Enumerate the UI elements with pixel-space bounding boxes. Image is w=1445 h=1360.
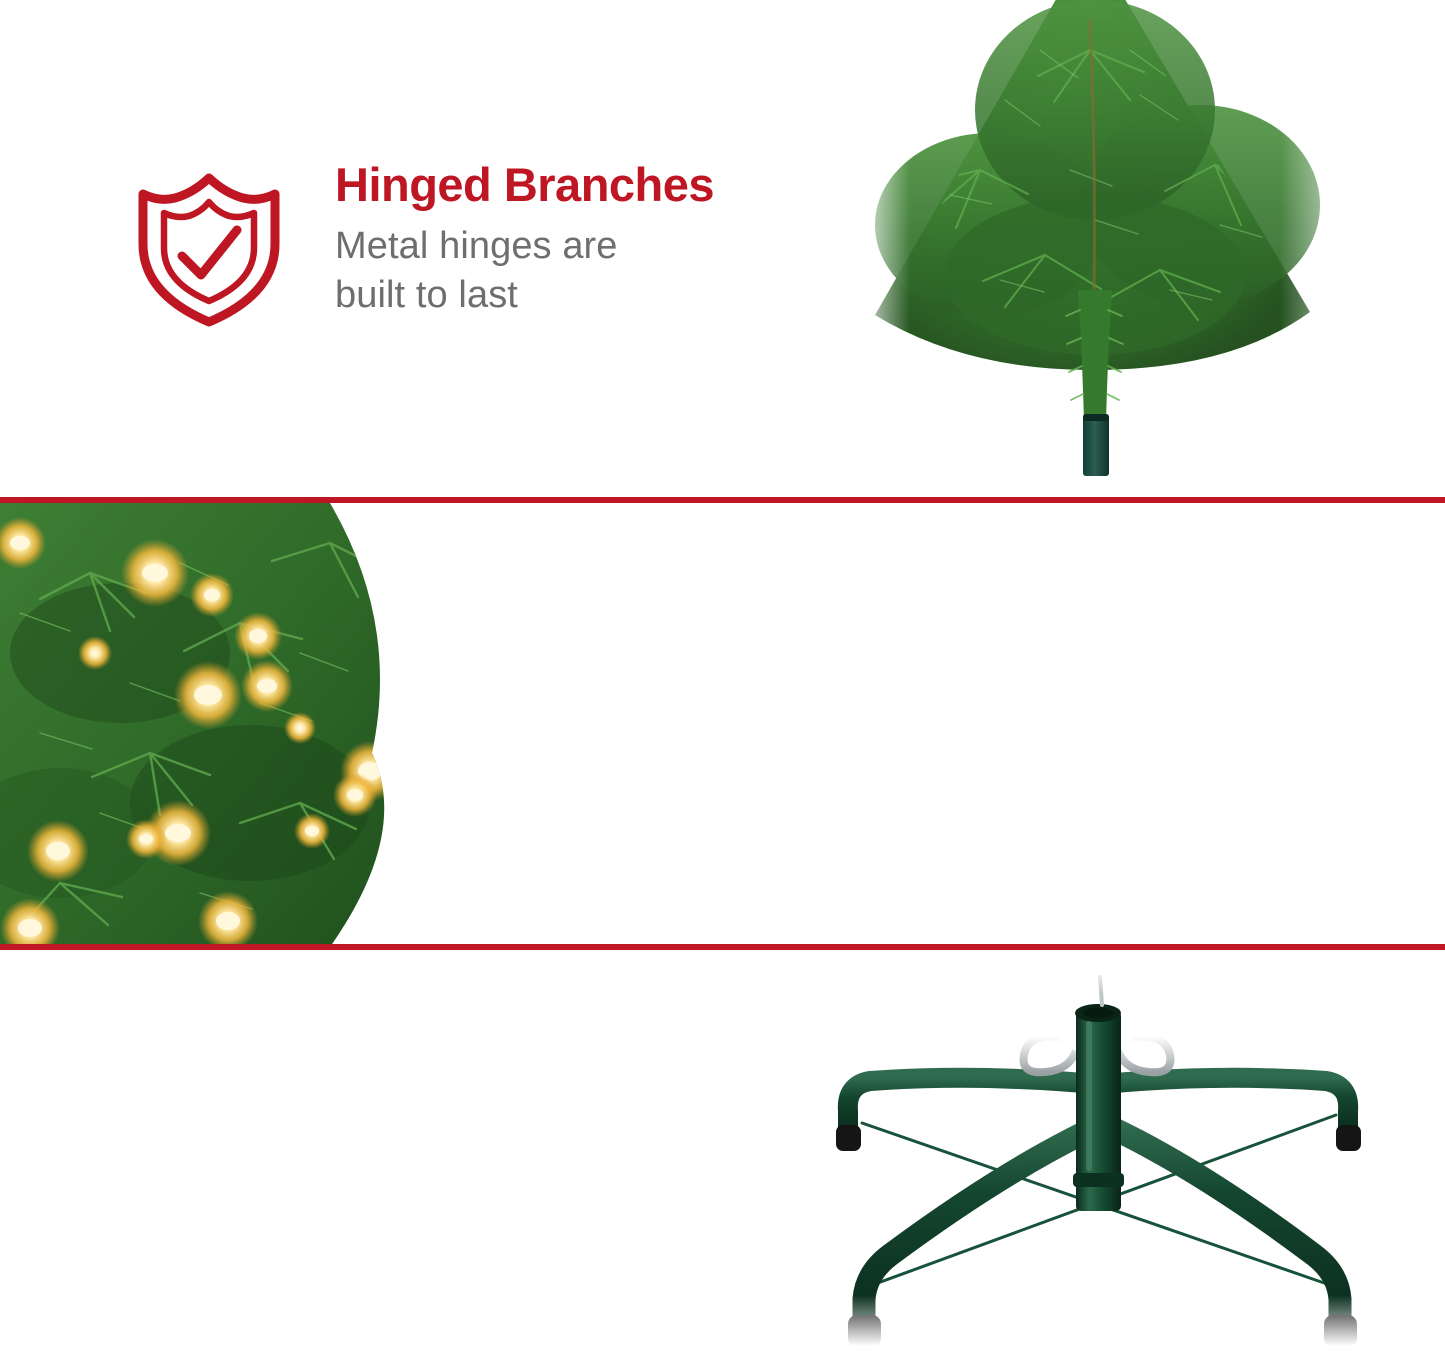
shield-check-icon: [133, 168, 285, 328]
photo-prelit-branches: [0, 503, 520, 947]
subtitle-line: built to last: [335, 271, 714, 320]
feature-panel-sturdy-base: Sturdy Base A reliable metal stand for y…: [0, 950, 1445, 1360]
feature-subtitle-hinged-branches: Metal hinges are built to last: [335, 222, 714, 321]
feature-text-hinged-branches: Hinged Branches Metal hinges are built t…: [335, 160, 714, 321]
product-feature-infographic: Hinged Branches Metal hinges are built t…: [0, 0, 1445, 1360]
feature-panel-pvc-tips: PVC Tips Flame-retardant and easy to flu…: [0, 503, 1445, 947]
photo-tree-stand: [770, 955, 1430, 1355]
tree-stand-illustration: [770, 955, 1430, 1355]
subtitle-line: Metal hinges are: [335, 222, 714, 271]
pine-branch-illustration: [840, 0, 1400, 490]
feature-panel-hinged-branches: Hinged Branches Metal hinges are built t…: [0, 0, 1445, 500]
prelit-branches-illustration: [0, 503, 520, 947]
feature-title-hinged-branches: Hinged Branches: [335, 160, 714, 210]
photo-pine-branch: [840, 0, 1400, 490]
